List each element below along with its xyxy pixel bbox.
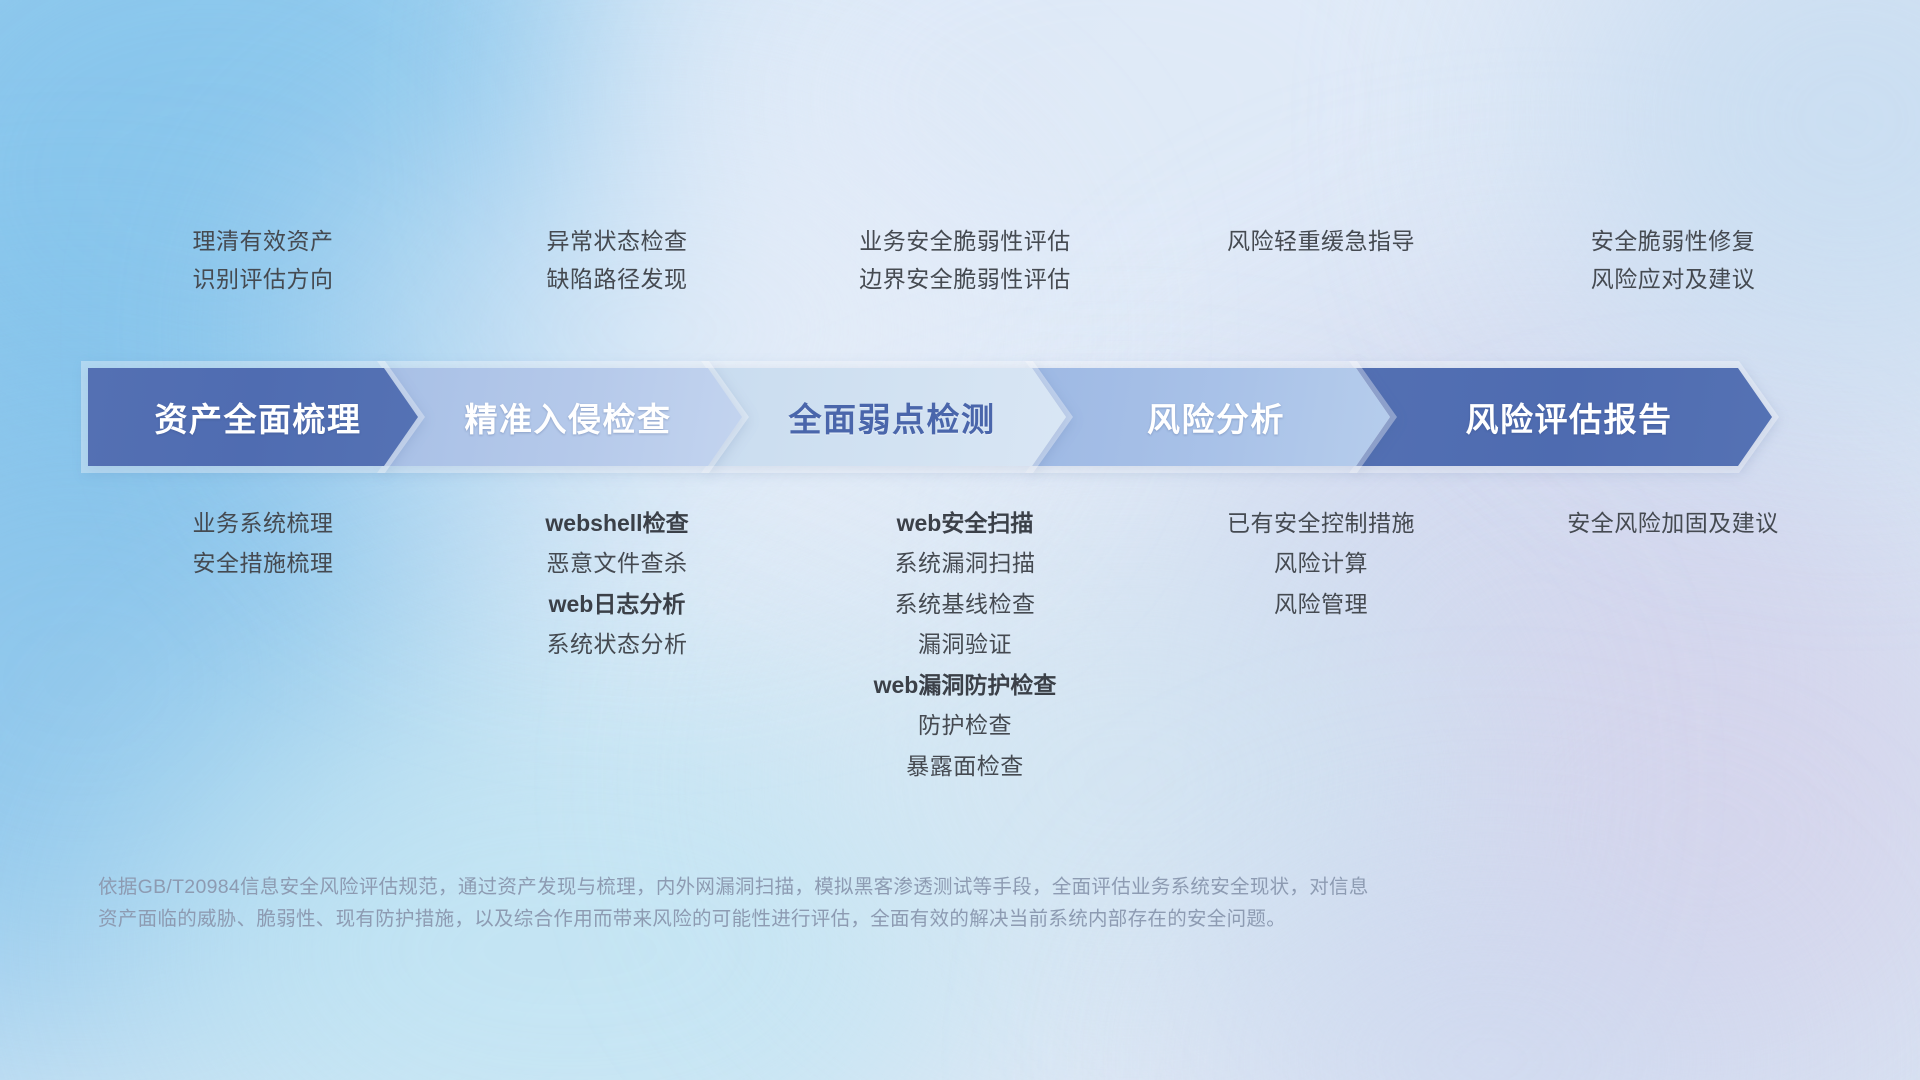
stage-inputs-5: 安全脆弱性修复 风险应对及建议: [1499, 228, 1847, 293]
stage-detail-item: 安全措施梳理: [193, 550, 334, 576]
stage-detail-item: 系统漏洞扫描: [895, 550, 1036, 576]
stage-title-3: 全面弱点检测: [779, 393, 996, 441]
stage-detail-item: 恶意文件查杀: [547, 550, 688, 576]
stage-detail-item: web日志分析: [549, 591, 686, 617]
stage-detail-item: webshell检查: [545, 510, 688, 536]
stage-input-item: 边界安全脆弱性评估: [859, 266, 1071, 292]
stage-details-5: 安全风险加固及建议: [1499, 510, 1847, 779]
stage-detail-item: web漏洞防护检查: [874, 672, 1057, 698]
stage-detail-item: web安全扫描: [897, 510, 1034, 536]
stage-chevron-3[interactable]: 全面弱点检测: [708, 368, 1066, 466]
stage-details-1: 业务系统梳理 安全措施梳理: [89, 510, 437, 779]
stage-detail-item: 暴露面检查: [906, 753, 1024, 779]
stage-input-item: 缺陷路径发现: [547, 266, 688, 292]
stage-details-4: 已有安全控制措施 风险计算 风险管理: [1147, 510, 1495, 779]
stage-title-4: 风险分析: [1137, 393, 1285, 441]
stage-title-2: 精准入侵检查: [455, 393, 672, 441]
stage-detail-item: 系统基线检查: [895, 591, 1036, 617]
stage-chevron-2[interactable]: 精准入侵检查: [384, 368, 742, 466]
stage-inputs-2: 异常状态检查 缺陷路径发现: [443, 228, 791, 293]
stage-detail-item: 业务系统梳理: [193, 510, 334, 536]
stage-title-1: 资产全面梳理: [145, 393, 362, 441]
stage-detail-item: 安全风险加固及建议: [1567, 510, 1779, 536]
stage-inputs-row: 理清有效资产 识别评估方向 异常状态检查 缺陷路径发现 业务安全脆弱性评估 边界…: [95, 228, 1835, 293]
stage-input-item: 理清有效资产: [193, 228, 334, 254]
stage-input-item: 业务安全脆弱性评估: [859, 228, 1071, 254]
stage-input-item: 识别评估方向: [193, 266, 334, 292]
slide-canvas: 理清有效资产 识别评估方向 异常状态检查 缺陷路径发现 业务安全脆弱性评估 边界…: [0, 0, 1920, 1080]
footer-line-2: 资产面临的威胁、脆弱性、现有防护措施，以及综合作用而带来风险的可能性进行评估，全…: [98, 904, 1598, 936]
stage-detail-item: 漏洞验证: [918, 631, 1012, 657]
stage-chevron-1[interactable]: 资产全面梳理: [88, 368, 418, 466]
footer-description: 依据GB/T20984信息安全风险评估规范，通过资产发现与梳理，内外网漏洞扫描，…: [98, 872, 1598, 935]
stage-input-item: 安全脆弱性修复: [1591, 228, 1756, 254]
stage-detail-item: 系统状态分析: [547, 631, 688, 657]
stage-title-5: 风险评估报告: [1456, 393, 1673, 441]
stage-details-3: web安全扫描 系统漏洞扫描 系统基线检查 漏洞验证 web漏洞防护检查 防护检…: [791, 510, 1139, 779]
stage-detail-item: 已有安全控制措施: [1227, 510, 1415, 536]
stage-details-row: 业务系统梳理 安全措施梳理 webshell检查 恶意文件查杀 web日志分析 …: [95, 510, 1835, 779]
stage-inputs-3: 业务安全脆弱性评估 边界安全脆弱性评估: [791, 228, 1139, 293]
stage-inputs-4: 风险轻重缓急指导: [1147, 228, 1495, 293]
stage-input-item: 风险应对及建议: [1591, 266, 1756, 292]
stage-detail-item: 风险管理: [1274, 591, 1368, 617]
stage-inputs-1: 理清有效资产 识别评估方向: [89, 228, 437, 293]
stage-chevron-5[interactable]: 风险评估报告: [1356, 368, 1772, 466]
process-chevron-banner: 资产全面梳理 精准入侵检查 全面弱点检测 风险分析 风险评估报告: [88, 368, 1842, 466]
stage-detail-item: 风险计算: [1274, 550, 1368, 576]
stage-input-item: 风险轻重缓急指导: [1227, 228, 1415, 254]
stage-input-item: 异常状态检查: [547, 228, 688, 254]
stage-details-2: webshell检查 恶意文件查杀 web日志分析 系统状态分析: [443, 510, 791, 779]
stage-detail-item: 防护检查: [918, 712, 1012, 738]
footer-line-1: 依据GB/T20984信息安全风险评估规范，通过资产发现与梳理，内外网漏洞扫描，…: [98, 872, 1598, 904]
stage-chevron-4[interactable]: 风险分析: [1032, 368, 1390, 466]
